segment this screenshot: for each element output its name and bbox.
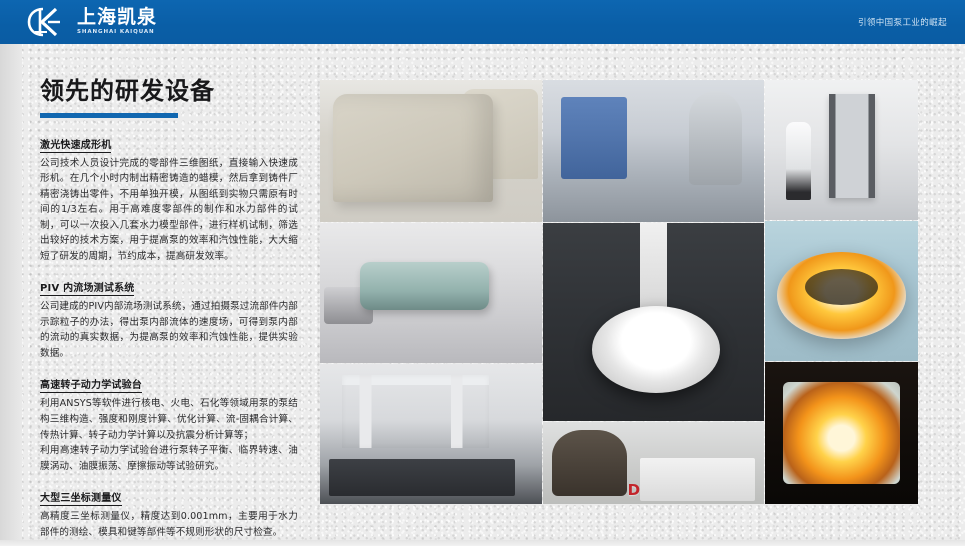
section-heading: 大型三坐标测量仪	[40, 489, 122, 506]
photo-balancing-machine-console[interactable]: DBLF	[543, 422, 764, 504]
photo-glowing-impeller-casting-top[interactable]	[765, 221, 918, 361]
photo-motor-test-bench[interactable]	[320, 223, 542, 363]
section-heading: PIV 内流场测试系统	[40, 279, 134, 296]
photo-laser-rapid-prototyping-machine[interactable]	[320, 80, 542, 222]
section-piv: PIV 内流场测试系统 公司建成的PIV内部流场测试系统，通过拍摄泵过流部件内部…	[40, 276, 298, 361]
page-title: 领先的研发设备	[40, 78, 298, 106]
section-laser: 激光快速成形机 公司技术人员设计完成的零部件三维图纸，直接输入快速成形机。在几个…	[40, 133, 298, 265]
kaiquan-k-mark-icon	[26, 6, 70, 38]
photo-cmm-measuring-machine[interactable]	[320, 364, 542, 504]
section-heading: 激光快速成形机	[40, 136, 111, 153]
section-body: 公司建成的PIV内部流场测试系统，通过拍摄泵过流部件内部示踪粒子的办法，得出泵内…	[40, 299, 298, 361]
brand-logo[interactable]: 上海凯泉 SHANGHAI KAIQUAN	[26, 6, 157, 38]
section-heading: 高速转子动力学试验台	[40, 376, 142, 393]
gallery-column-left	[320, 80, 542, 504]
photo-impeller-cmm-probe[interactable]	[543, 223, 764, 421]
title-underline-rule	[40, 113, 178, 118]
text-column: 领先的研发设备 激光快速成形机 公司技术人员设计完成的零部件三维图纸，直接输入快…	[40, 78, 298, 546]
photo-glowing-impeller-casting-furnace[interactable]	[765, 362, 918, 504]
balancing-machine-brand-label: DBLF	[543, 481, 764, 499]
section-body: 利用ANSYS等软件进行核电、火电、石化等领域用泵的泵结构三维构造、强度和刚度计…	[40, 396, 298, 474]
logo-english-name: SHANGHAI KAIQUAN	[77, 30, 157, 36]
section-rotor-dynamics: 高速转子动力学试验台 利用ANSYS等软件进行核电、火电、石化等领域用泵的泵结构…	[40, 373, 298, 474]
section-body: 高精度三坐标测量仪，精度达到0.001mm，主要用于水力部件的测绘、模具和键等部…	[40, 509, 298, 540]
section-body: 公司技术人员设计完成的零部件三维图纸，直接输入快速成形机。在几个小时内制出精密铸…	[40, 156, 298, 265]
header-slogan: 引领中国泵工业的崛起	[858, 0, 947, 44]
gallery-column-middle: DBLF	[543, 80, 764, 504]
photo-gallery: DBLF	[320, 80, 918, 504]
photo-universal-tensile-testing-machine[interactable]	[765, 80, 918, 220]
slide-page: 上海凯泉 SHANGHAI KAIQUAN 引领中国泵工业的崛起 领先的研发设备…	[0, 0, 965, 546]
photo-piv-flow-test-rig[interactable]	[543, 80, 764, 222]
top-header-bar: 上海凯泉 SHANGHAI KAIQUAN 引领中国泵工业的崛起	[0, 0, 965, 44]
gallery-column-right	[765, 80, 918, 504]
left-edge-strip	[0, 44, 22, 546]
section-cmm: 大型三坐标测量仪 高精度三坐标测量仪，精度达到0.001mm，主要用于水力部件的…	[40, 486, 298, 540]
logo-chinese-name: 上海凯泉	[77, 8, 157, 27]
